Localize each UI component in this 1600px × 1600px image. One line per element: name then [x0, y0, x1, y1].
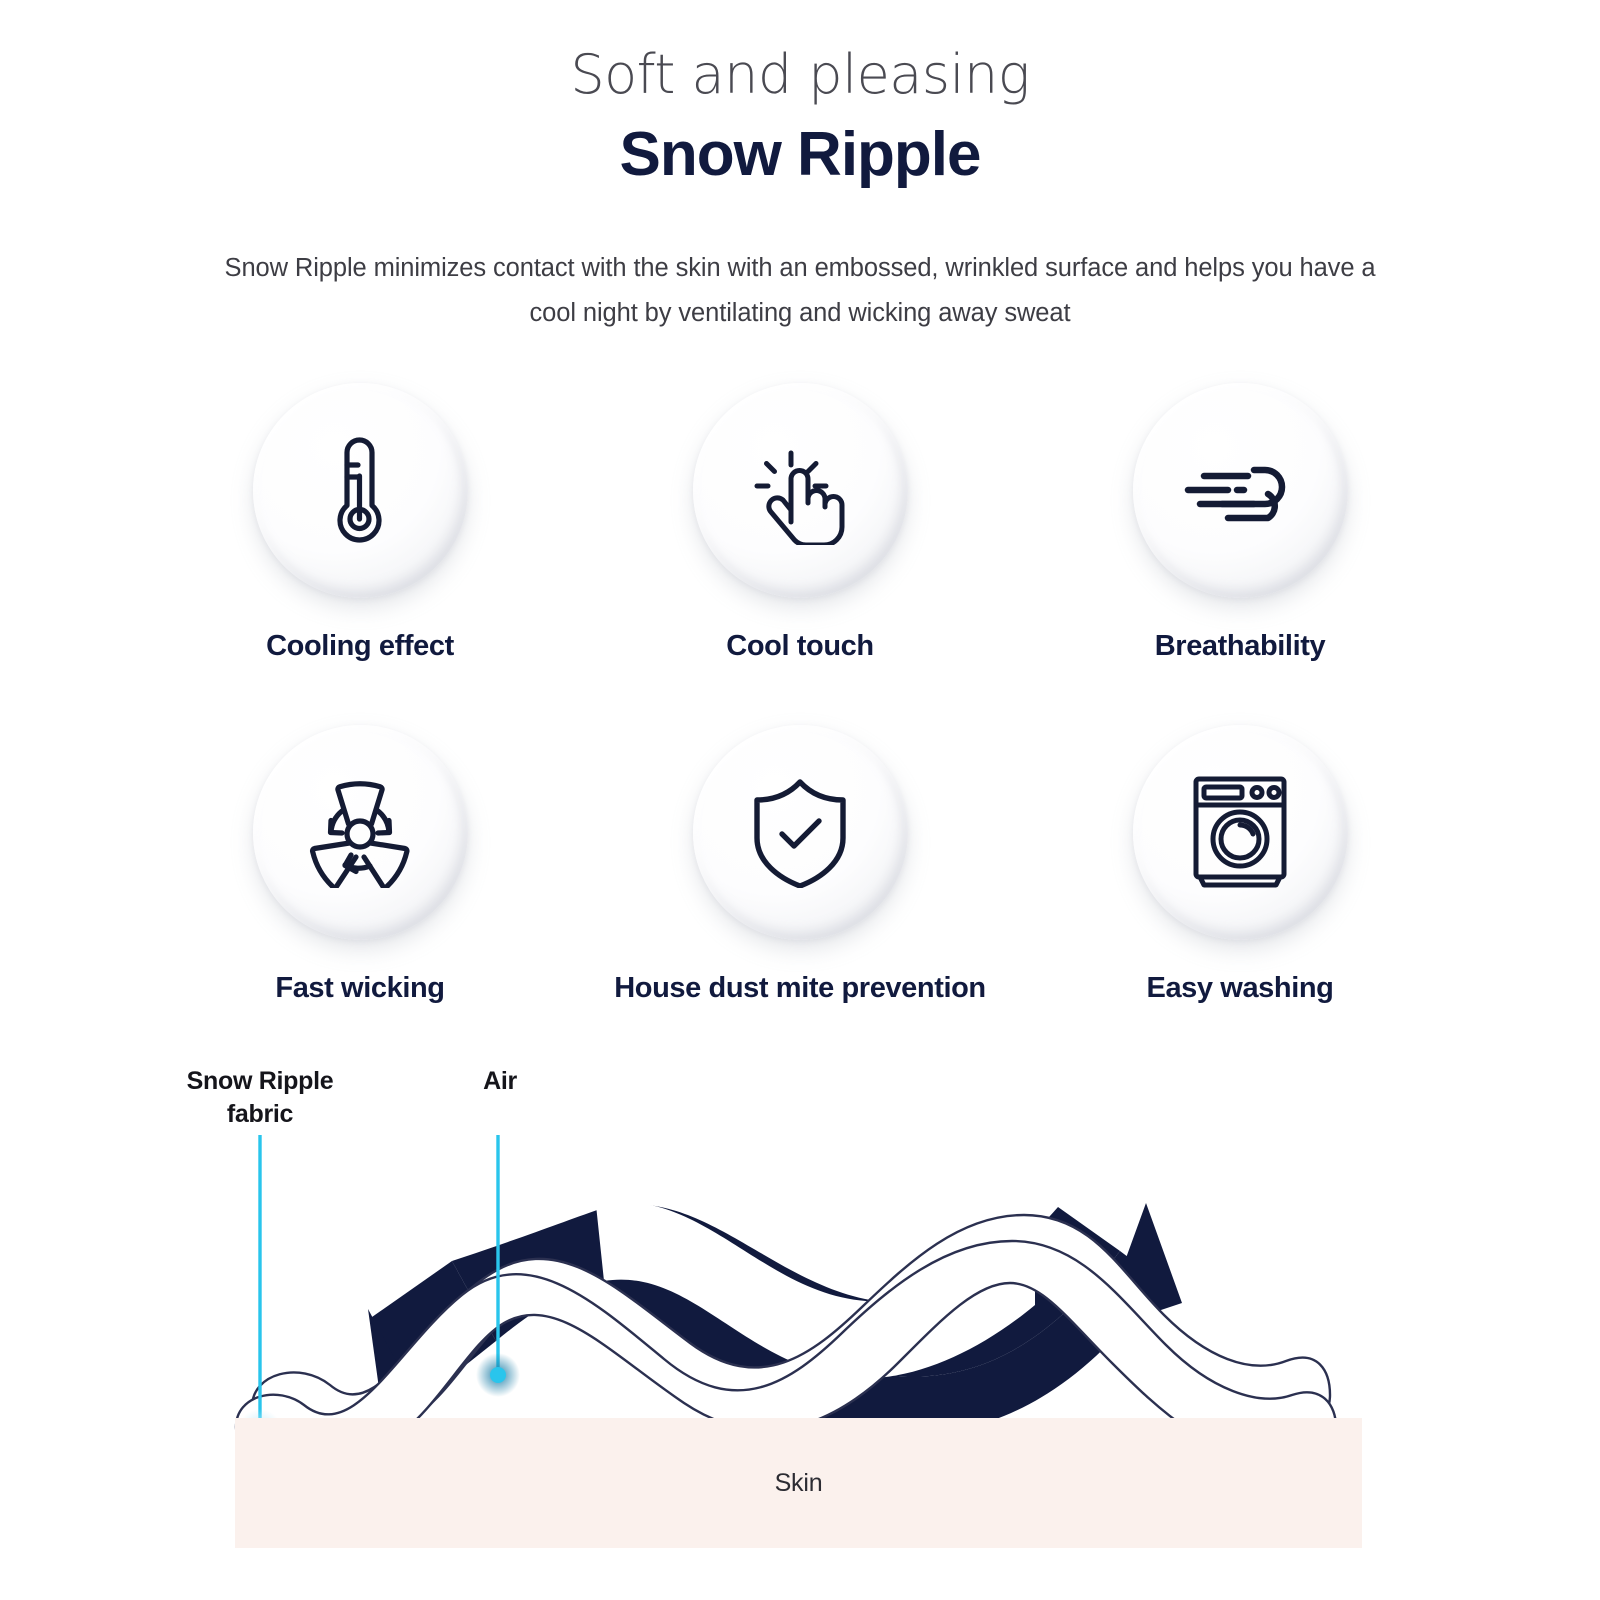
- fan-blades-icon: [301, 776, 419, 888]
- eyebrow-text: Soft and pleasing: [0, 44, 1600, 106]
- washing-machine-icon: [1190, 775, 1290, 889]
- feature-icon-bubble: [253, 725, 468, 940]
- feature-label: Fast wicking: [275, 972, 444, 1005]
- thermometer-icon: [317, 435, 403, 545]
- feature-cooling-effect: Cooling effect: [140, 383, 580, 663]
- feature-label: Cooling effect: [266, 630, 454, 663]
- callout-line-1: Air: [420, 1065, 580, 1098]
- feature-cool-touch: Cool touch: [580, 383, 1020, 663]
- feature-easy-washing: Easy washing: [1020, 725, 1460, 1005]
- skin-label: Skin: [775, 1469, 823, 1498]
- callout-snow-ripple-fabric: Snow Ripple fabric: [150, 1065, 370, 1131]
- feature-icon-bubble: [693, 725, 908, 940]
- callout-line-2: fabric: [150, 1098, 370, 1131]
- callout-line-1: Snow Ripple: [150, 1065, 370, 1098]
- airflow-diagram: Snow Ripple fabric Air: [0, 1055, 1600, 1475]
- feature-label: House dust mite prevention: [614, 972, 986, 1005]
- page-header: Soft and pleasing Snow Ripple: [0, 0, 1600, 192]
- feature-dust-mite-prevention: House dust mite prevention: [580, 725, 1020, 1005]
- feature-icon-bubble: [253, 383, 468, 598]
- feature-label: Easy washing: [1147, 972, 1334, 1005]
- feature-breathability: Breathability: [1020, 383, 1460, 663]
- feature-fast-wicking: Fast wicking: [140, 725, 580, 1005]
- wind-icon: [1182, 454, 1298, 526]
- shield-check-icon: [751, 776, 849, 888]
- skin-layer-bar: Skin: [235, 1418, 1362, 1548]
- feature-grid: Cooling effect: [140, 383, 1460, 1005]
- page-title: Snow Ripple: [0, 118, 1600, 192]
- feature-icon-bubble: [1133, 725, 1348, 940]
- page-subtitle: Snow Ripple minimizes contact with the s…: [200, 246, 1400, 337]
- feature-icon-bubble: [1133, 383, 1348, 598]
- feature-label: Cool touch: [726, 630, 873, 663]
- feature-icon-bubble: [693, 383, 908, 598]
- callout-air: Air: [420, 1065, 580, 1098]
- feature-label: Breathability: [1155, 630, 1325, 663]
- product-feature-page: Soft and pleasing Snow Ripple Snow Rippl…: [0, 0, 1600, 1600]
- tap-hand-icon: [748, 435, 852, 545]
